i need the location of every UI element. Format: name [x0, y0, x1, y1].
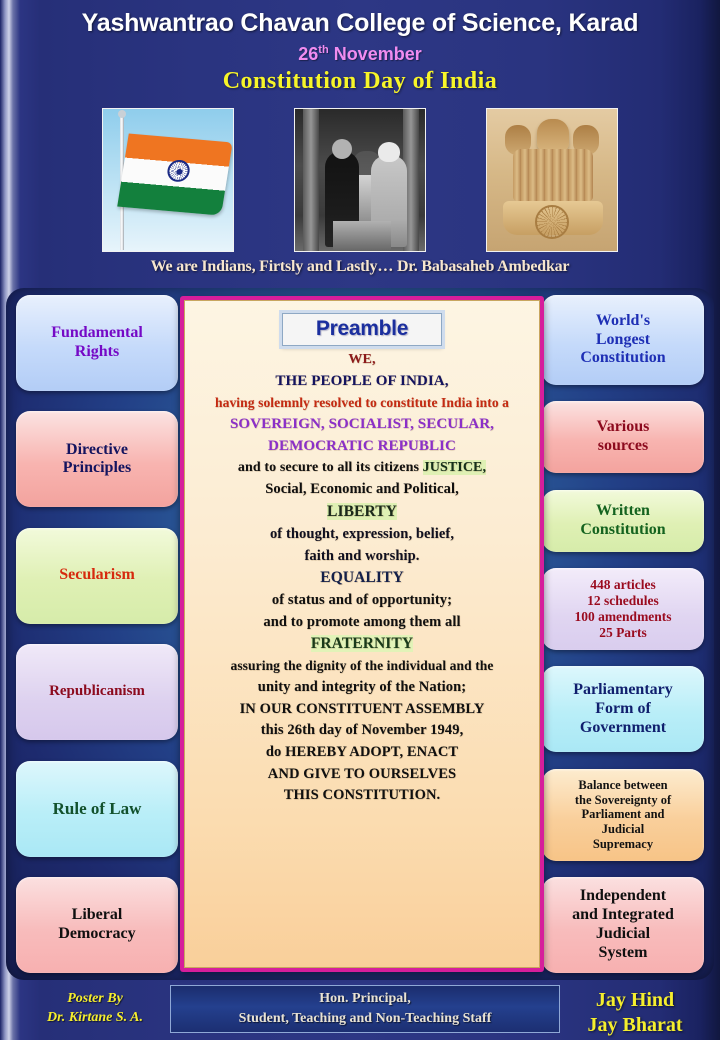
preamble-line: faith and worship.	[193, 549, 531, 564]
date-month: November	[329, 44, 422, 64]
lamp-icon	[357, 175, 371, 227]
poster-footer: Poster By Dr. Kirtane S. A. Hon. Princip…	[0, 980, 720, 1040]
poster-author-credit: Poster By Dr. Kirtane S. A.	[20, 990, 170, 1028]
constitution-day-poster: Yashwantrao Chavan College of Science, K…	[0, 0, 720, 1040]
pillar-left-icon	[303, 109, 319, 251]
preamble-title-box: Preamble	[282, 313, 442, 346]
preamble-line: WE,	[193, 353, 531, 368]
preamble-line: FRATERNITY	[193, 636, 531, 652]
ambedkar-historic-photo	[294, 108, 426, 252]
ashoka-lion-capital-photo	[486, 108, 618, 252]
chip-various-sources[interactable]: Various sources	[542, 401, 704, 473]
ambedkar-quote-tagline: We are Indians, Firtsly and Lastly… Dr. …	[0, 258, 720, 276]
chip-republicanism[interactable]: Republicanism	[16, 644, 178, 740]
preamble-line: unity and integrity of the Nation;	[193, 680, 531, 695]
left-feature-column: Fundamental Rights Directive Principles …	[16, 292, 178, 976]
college-name: Yashwantrao Chavan College of Science, K…	[0, 8, 720, 38]
chip-balance-sovereignty-judicial-supremacy[interactable]: Balance between the Sovereignty of Parli…	[542, 769, 704, 861]
preamble-line: Social, Economic and Political,	[193, 482, 531, 497]
preamble-highlight-justice: JUSTICE,	[423, 460, 486, 475]
chip-independent-integrated-judicial-system[interactable]: Independent and Integrated Judicial Syst…	[542, 877, 704, 973]
preamble-line: EQUALITY	[193, 570, 531, 586]
poster-header: Yashwantrao Chavan College of Science, K…	[0, 0, 720, 100]
date-ordinal: th	[318, 44, 328, 56]
chip-parliamentary-form-of-government[interactable]: Parliamentary Form of Government	[542, 666, 704, 752]
preamble-line: of thought, expression, belief,	[193, 527, 531, 542]
preamble-highlight-word: FRATERNITY	[311, 635, 413, 652]
lion-center-head-icon	[537, 119, 569, 153]
chip-liberal-democracy[interactable]: Liberal Democracy	[16, 877, 178, 973]
dharma-chakra-icon	[535, 205, 569, 239]
tricolour-icon	[117, 133, 232, 215]
chip-articles-statistics[interactable]: 448 articles 12 schedules 100 amendments…	[542, 568, 704, 650]
photo-strip	[0, 108, 720, 253]
right-feature-column: World's Longest Constitution Various sou…	[542, 292, 704, 976]
preamble-line: AND GIVE TO OURSELVES	[193, 767, 531, 782]
indian-flag-photo	[102, 108, 234, 252]
chip-directive-principles[interactable]: Directive Principles	[16, 411, 178, 507]
preamble-line: do HEREBY ADOPT, ENACT	[193, 745, 531, 760]
table-icon	[333, 221, 391, 251]
preamble-line: and to secure to all its citizens JUSTIC…	[193, 461, 531, 476]
preamble-line: and to promote among them all	[193, 615, 531, 630]
preamble-line: this 26th day of November 1949,	[193, 723, 531, 738]
chip-written-constitution[interactable]: Written Constitution	[542, 490, 704, 552]
date-line: 26th November	[0, 38, 720, 66]
preamble-line: of status and of opportunity;	[193, 593, 531, 608]
lion-mane-icon	[513, 149, 593, 201]
preamble-line: DEMOCRATIC REPUBLIC	[193, 439, 531, 455]
chip-rule-of-law[interactable]: Rule of Law	[16, 761, 178, 857]
jay-hind-slogan: Jay Hind Jay Bharat	[560, 988, 710, 1038]
preamble-line: THE PEOPLE OF INDIA,	[193, 374, 531, 390]
preamble-text-body: WE,THE PEOPLE OF INDIA,having solemnly r…	[193, 353, 531, 804]
ashoka-chakra-icon	[166, 159, 191, 183]
preamble-line: assuring the dignity of the individual a…	[193, 659, 531, 673]
preamble-line: LIBERTY	[193, 504, 531, 520]
poster-subtitle: Constitution Day of India	[0, 66, 720, 96]
principal-staff-credit-box: Hon. Principal, Student, Teaching and No…	[170, 985, 560, 1033]
preamble-panel: Preamble WE,THE PEOPLE OF INDIA,having s…	[180, 296, 544, 972]
preamble-inner: Preamble WE,THE PEOPLE OF INDIA,having s…	[184, 300, 540, 968]
chip-secularism[interactable]: Secularism	[16, 528, 178, 624]
chip-fundamental-rights[interactable]: Fundamental Rights	[16, 295, 178, 391]
preamble-title: Preamble	[283, 317, 441, 341]
preamble-line: SOVEREIGN, SOCIALIST, SECULAR,	[193, 417, 531, 433]
preamble-line-text: and to secure to all its citizens	[238, 460, 423, 475]
preamble-highlight-word: LIBERTY	[327, 503, 397, 520]
preamble-line: THIS CONSTITUTION.	[193, 788, 531, 803]
preamble-line: having solemnly resolved to constitute I…	[193, 396, 531, 410]
date-number: 26	[298, 44, 318, 64]
preamble-line: IN OUR CONSTITUENT ASSEMBLY	[193, 702, 531, 717]
chip-worlds-longest-constitution[interactable]: World's Longest Constitution	[542, 295, 704, 385]
